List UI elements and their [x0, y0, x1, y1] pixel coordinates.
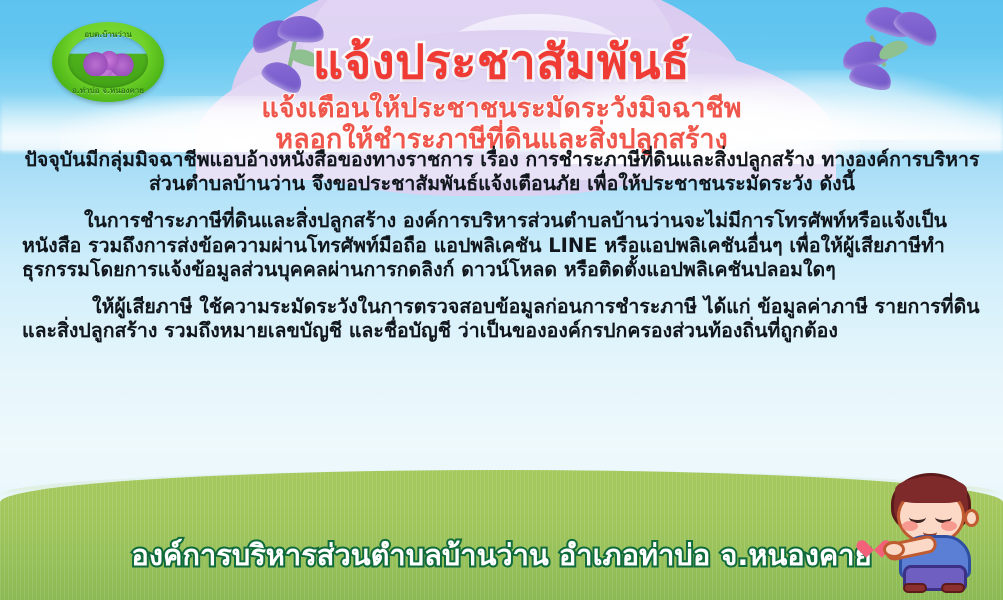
announcement-poster: อบต.บ้านว่าน อ.ท่าบ่อ จ.หนองคาย แจ้งประช…	[0, 0, 1003, 600]
poster-footer: องค์การบริหารส่วนตำบลบ้านว่าน อำเภอท่าบ่…	[0, 532, 1003, 578]
body-paragraph-2: ในการชำระภาษีที่ดินและสิ่งปลูกสร้าง องค์…	[22, 209, 982, 282]
body-paragraph-3: ให้ผู้เสียภาษี ใช้ความระมัดระวังในการตรว…	[22, 295, 982, 343]
poster-body: ปัจจุบันมีกลุ่มมิจฉาชีพแอบอ้างหนังสือของ…	[22, 148, 982, 356]
mascot-cheek-left	[902, 521, 918, 531]
body-paragraph-1: ปัจจุบันมีกลุ่มมิจฉาชีพแอบอ้างหนังสือของ…	[22, 148, 982, 196]
mascot-shoe-left	[903, 583, 927, 593]
mascot-ear	[964, 509, 979, 527]
mascot-boy-illustration	[869, 469, 995, 594]
mascot-shoe-right	[941, 583, 965, 593]
mascot-hands-wai	[883, 541, 905, 558]
mascot-hair-front	[895, 477, 967, 503]
heart-icon	[863, 533, 885, 553]
mascot-cheek-right	[941, 521, 957, 531]
